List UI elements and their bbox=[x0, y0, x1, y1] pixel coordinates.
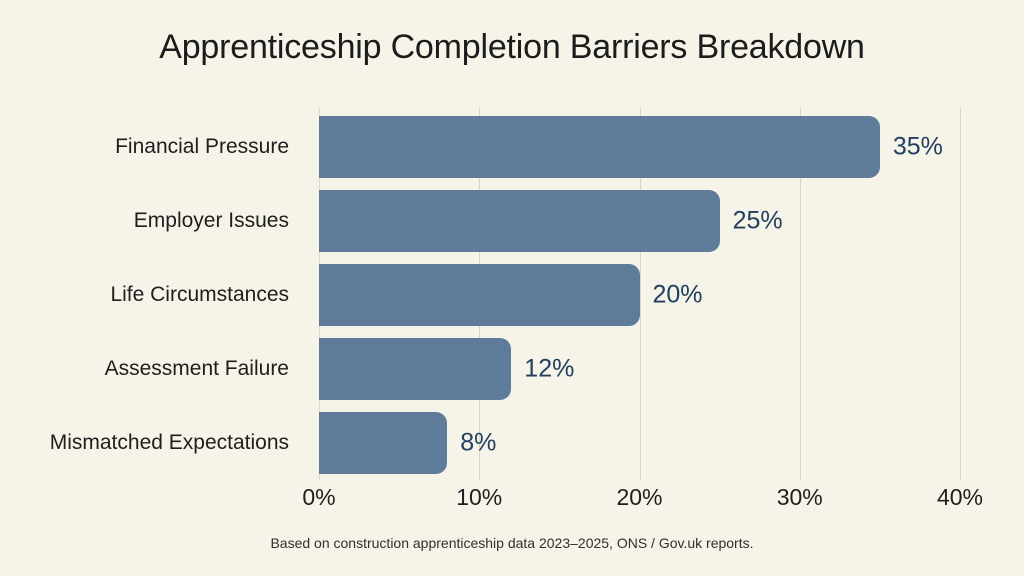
category-label: Assessment Failure bbox=[0, 338, 304, 400]
category-axis: Financial PressureEmployer IssuesLife Ci… bbox=[0, 108, 304, 480]
category-label: Financial Pressure bbox=[0, 116, 304, 178]
x-tick-label: 20% bbox=[616, 484, 662, 511]
bar bbox=[319, 264, 640, 326]
x-axis: 0%10%20%30%40% bbox=[319, 484, 960, 516]
bar bbox=[319, 190, 720, 252]
bar-value-label: 35% bbox=[893, 133, 943, 162]
page-title: Apprenticeship Completion Barriers Break… bbox=[0, 28, 1024, 67]
chart-slide: Apprenticeship Completion Barriers Break… bbox=[0, 0, 1024, 576]
bar-value-label: 8% bbox=[460, 429, 496, 458]
gridline-40% bbox=[960, 108, 961, 480]
bar bbox=[319, 412, 447, 474]
bar bbox=[319, 338, 511, 400]
bar-value-label: 12% bbox=[524, 355, 574, 384]
bar-row: 25% bbox=[319, 190, 960, 252]
bar-value-label: 20% bbox=[653, 281, 703, 310]
bar-series: 35%25%20%12%8% bbox=[319, 108, 960, 480]
bar bbox=[319, 116, 880, 178]
bar-row: 20% bbox=[319, 264, 960, 326]
category-label: Mismatched Expectations bbox=[0, 412, 304, 474]
x-tick-label: 40% bbox=[937, 484, 983, 511]
chart-caption: Based on construction apprenticeship dat… bbox=[0, 535, 1024, 551]
category-label: Employer Issues bbox=[0, 190, 304, 252]
x-tick-label: 30% bbox=[777, 484, 823, 511]
category-label: Life Circumstances bbox=[0, 264, 304, 326]
bar-row: 12% bbox=[319, 338, 960, 400]
x-tick-label: 0% bbox=[302, 484, 335, 511]
bar-row: 8% bbox=[319, 412, 960, 474]
x-tick-label: 10% bbox=[456, 484, 502, 511]
plot-area: 35%25%20%12%8% bbox=[319, 108, 960, 480]
bar-value-label: 25% bbox=[733, 207, 783, 236]
bar-row: 35% bbox=[319, 116, 960, 178]
